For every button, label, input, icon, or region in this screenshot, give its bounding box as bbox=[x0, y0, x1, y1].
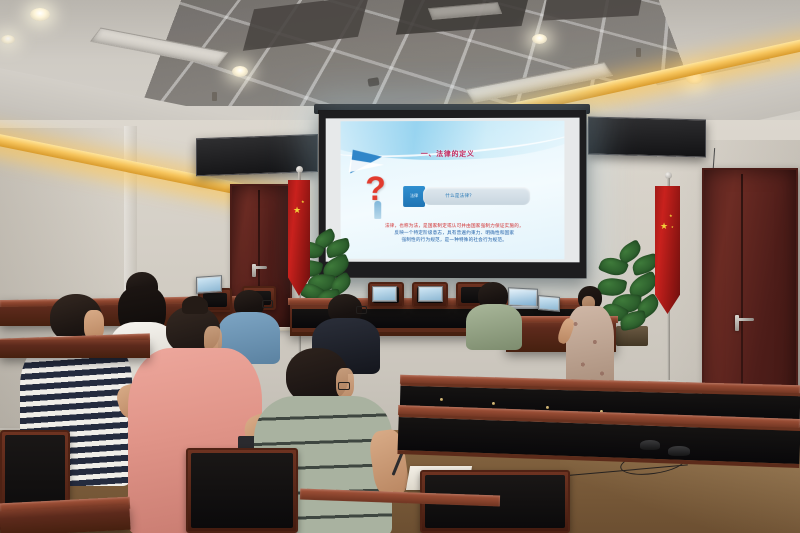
conference-room-photo: 一、法律的定义 ? 法律 什么是法律？ 法律，也称为法，是国家制定或认可并由国家… bbox=[0, 0, 800, 533]
ceiling-downlight bbox=[30, 8, 50, 21]
ceiling-downlight bbox=[1, 35, 15, 44]
slide-tag-label: 法律 bbox=[410, 193, 418, 199]
slide-speech-bar: 什么是法律？ bbox=[423, 187, 530, 205]
projected-slide: 一、法律的定义 ? 法律 什么是法律？ 法律，也称为法，是国家制定或认可并由国家… bbox=[341, 121, 564, 260]
ceiling-downlight bbox=[232, 66, 248, 77]
wall-display-panel-right bbox=[588, 116, 706, 157]
slide-title: 一、法律的定义 bbox=[421, 148, 475, 158]
slide-tag-box: 法律 bbox=[403, 186, 425, 207]
projection-screen: 一、法律的定义 ? 法律 什么是法律？ 法律，也称为法，是国家制定或认可并由国家… bbox=[319, 110, 587, 279]
sprinkler-head bbox=[636, 48, 641, 57]
slide-figure-graphic bbox=[374, 201, 381, 219]
screen-surface: 一、法律的定义 ? 法律 什么是法律？ 法律，也称为法，是国家制定或认可并由国家… bbox=[326, 118, 580, 263]
slide-body-line: 强制性的行为规范，是一种特殊的社会行为规范。 bbox=[372, 237, 537, 244]
ceiling-downlight bbox=[532, 34, 547, 44]
slide-speech-text: 什么是法律？ bbox=[445, 193, 474, 199]
slide-body-text: 法律，也称为法，是国家制定或认可并由国家强制力保证实施的， 反映一个特定阶级意志… bbox=[372, 223, 537, 244]
chair-foreground-center[interactable] bbox=[186, 448, 298, 533]
sprinkler-head bbox=[212, 92, 217, 101]
